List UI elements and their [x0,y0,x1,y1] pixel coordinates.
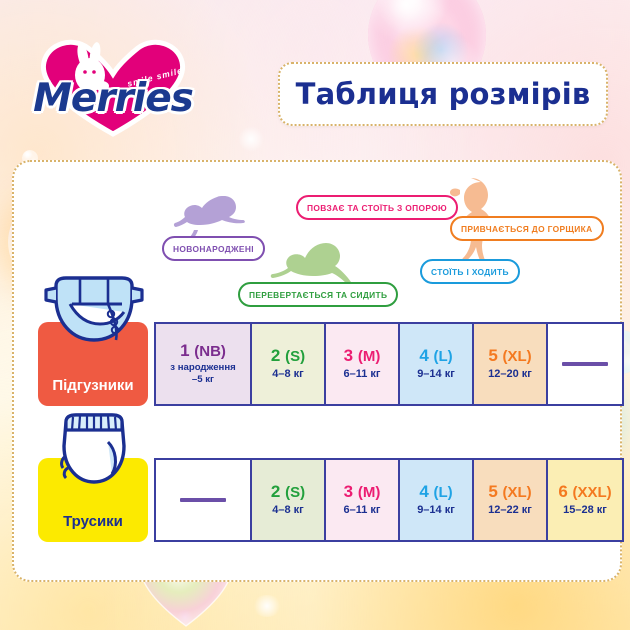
cell-size-diaper-xl: 5 [488,346,497,365]
cell-paren-pants-xxl: (XXL) [573,484,612,501]
cells-pants: 2 (S) 4–8 кг 3 (M) 6–11 кг 4 (L) 9–14 кг… [154,458,624,542]
cell-size-diaper-m: 3 [344,346,353,365]
cell-diaper-m[interactable]: 3 (M) 6–11 кг [326,324,400,404]
row-label-text-pants: Трусики [63,513,123,530]
table-row-diapers: Підгузники 1 (NB) з народження –5 кг 2 (… [38,322,624,406]
cell-weight-pants-xl: 12–22 кг [488,504,532,518]
brand-logo: smile smile Merries [28,30,198,140]
cell-pants-s[interactable]: 2 (S) 4–8 кг [252,460,326,540]
stage-pill-stand[interactable]: СТОЇТЬ І ХОДИТЬ [420,259,520,284]
sparkle-icon [238,126,264,152]
page-title: Таблиця розмірів [296,77,591,111]
cell-weight-pants-xxl: 15–28 кг [563,504,607,518]
cell-size-pants-xxl: 6 [558,482,567,501]
row-label-text-diapers: Підгузники [52,377,133,394]
page-title-box: Таблиця розмірів [278,62,608,126]
cell-diaper-nb[interactable]: 1 (NB) з народження –5 кг [156,324,252,404]
cell-weight-pants-l: 9–14 кг [417,504,455,518]
cell-weight-diaper-nb: з народження –5 кг [170,362,235,386]
cell-diaper-empty [548,324,622,404]
cell-paren-diaper-s: (S) [285,348,305,365]
cell-weight-diaper-s: 4–8 кг [272,368,304,382]
empty-dash-icon [562,362,608,366]
cell-size-pants-l: 4 [419,482,428,501]
cell-pants-xxl[interactable]: 6 (XXL) 15–28 кг [548,460,622,540]
cell-weight-diaper-m: 6–11 кг [343,368,380,382]
cell-paren-diaper-xl: (XL) [503,348,532,365]
cell-diaper-s[interactable]: 2 (S) 4–8 кг [252,324,326,404]
brand-name: Merries [32,76,194,121]
cell-size-pants-xl: 5 [488,482,497,501]
cell-size-pants-s: 2 [271,482,280,501]
cells-diapers: 1 (NB) з народження –5 кг 2 (S) 4–8 кг 3… [154,322,624,406]
cell-paren-pants-s: (S) [285,484,305,501]
cell-paren-diaper-nb: (NB) [194,343,226,360]
cell-pants-empty [156,460,252,540]
cell-weight-pants-m: 6–11 кг [343,504,380,518]
cell-pants-m[interactable]: 3 (M) 6–11 кг [326,460,400,540]
stage-pill-potty[interactable]: ПРИВЧАЄТЬСЯ ДО ГОРЩИКА [450,216,604,241]
cell-weight-diaper-l: 9–14 кг [417,368,455,382]
row-label-pants: Трусики [38,458,148,542]
cell-weight-pants-s: 4–8 кг [272,504,304,518]
cell-pants-xl[interactable]: 5 (XL) 12–22 кг [474,460,548,540]
cell-size-diaper-nb: 1 [180,341,189,360]
training-pants-icon [52,412,136,486]
cell-paren-pants-xl: (XL) [503,484,532,501]
stage-pill-newborn[interactable]: НОВОНАРОДЖЕНІ [162,236,265,261]
cell-size-diaper-l: 4 [419,346,428,365]
cell-paren-pants-l: (L) [434,484,453,501]
stage-pill-crawl[interactable]: ПОВЗАЄ ТА СТОЇТЬ З ОПОРОЮ [296,195,458,220]
cell-paren-diaper-m: (M) [358,348,381,365]
sparkle-icon [176,610,194,624]
cell-size-diaper-s: 2 [271,346,280,365]
stage-pill-rollover[interactable]: ПЕРЕВЕРТАЄТЬСЯ ТА СИДИТЬ [238,282,398,307]
sparkle-icon [252,595,282,617]
cell-size-pants-m: 3 [344,482,353,501]
cell-paren-diaper-l: (L) [434,348,453,365]
cell-pants-l[interactable]: 4 (L) 9–14 кг [400,460,474,540]
cell-paren-pants-m: (M) [358,484,381,501]
cell-diaper-l[interactable]: 4 (L) 9–14 кг [400,324,474,404]
cell-weight-diaper-xl: 12–20 кг [488,368,532,382]
diaper-icon [44,274,144,352]
cell-diaper-xl[interactable]: 5 (XL) 12–20 кг [474,324,548,404]
table-row-pants: Трусики 2 (S) 4–8 кг 3 (M) 6–11 кг 4 (L)… [38,458,624,542]
row-label-diapers: Підгузники [38,322,148,406]
empty-dash-icon [180,498,226,502]
